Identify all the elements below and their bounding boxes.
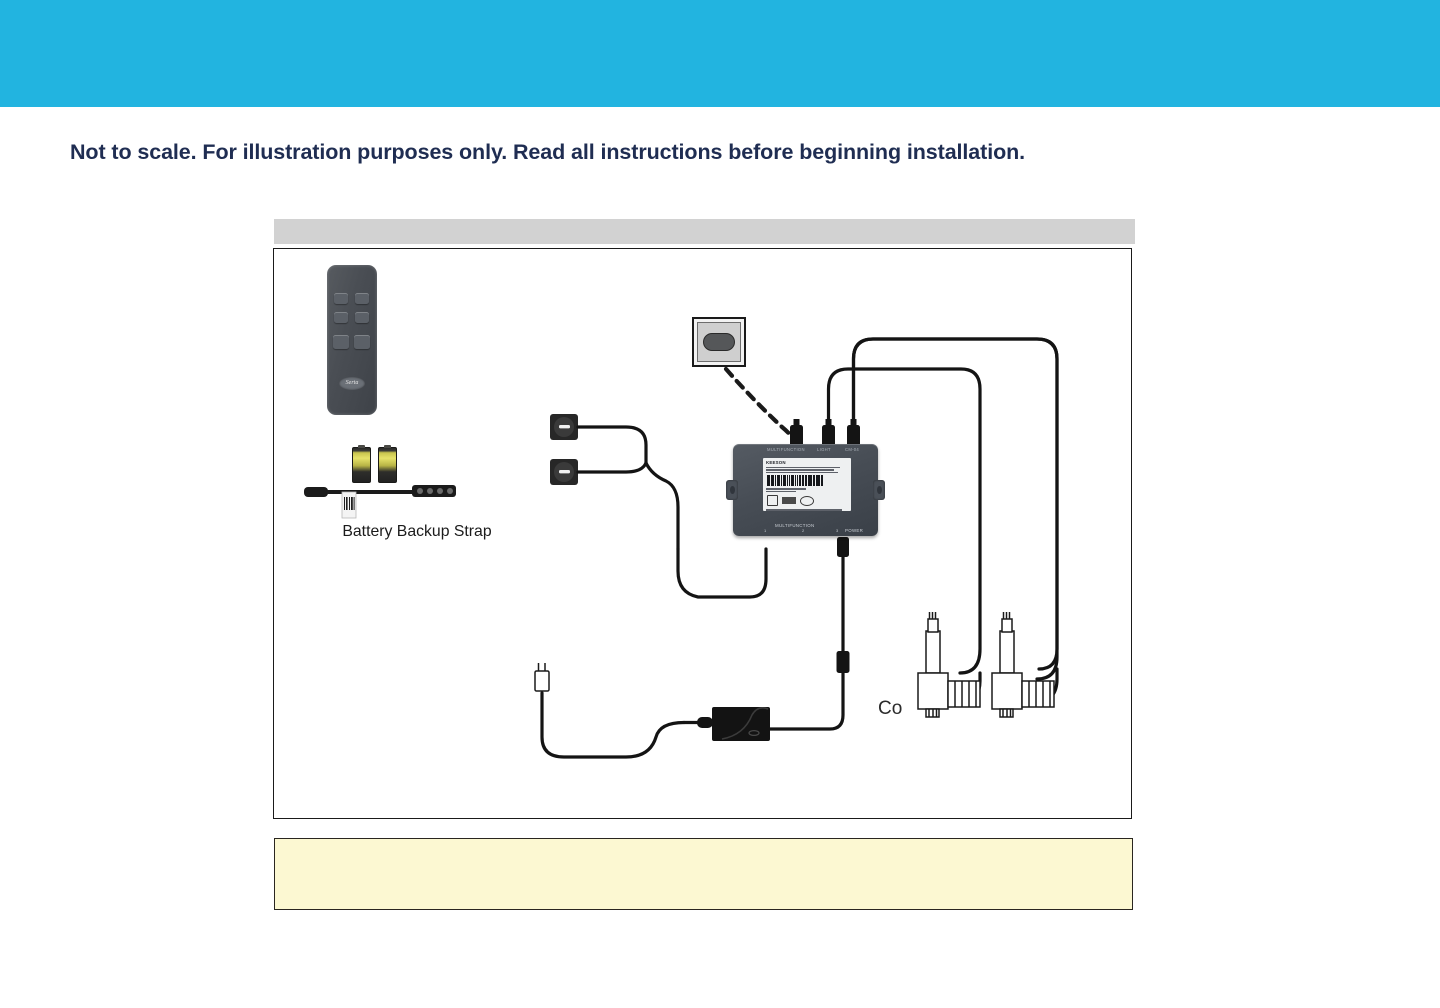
top-banner — [0, 0, 1440, 107]
control-box-mount-left — [726, 480, 738, 500]
battery-backup-strap-label: Battery Backup Strap — [292, 523, 542, 541]
section-label-multifunction: MULTIFUNCTION — [775, 523, 814, 528]
port-number-1: 1 — [764, 528, 767, 533]
port-label-multifunction-top: MULTIFUNCTION — [767, 447, 805, 452]
diagram-header-strip — [274, 219, 1135, 244]
wall-switch[interactable] — [692, 317, 746, 367]
wall-switch-button[interactable] — [703, 333, 735, 351]
note-box — [274, 838, 1133, 910]
ac-power-cord — [535, 663, 684, 757]
remote-button-head-down[interactable] — [334, 312, 348, 323]
remote-button-head-up[interactable] — [334, 293, 348, 304]
power-cable — [770, 537, 850, 729]
actuator-left — [918, 612, 980, 717]
remote-brand-logo: Serta — [339, 377, 365, 390]
remote-button-foot-down[interactable] — [355, 312, 369, 323]
remote-brand-text: Serta — [339, 377, 365, 390]
wireless-link — [726, 369, 796, 445]
control-box-truncated-label: Co — [878, 698, 902, 720]
remote-button-memory[interactable] — [354, 335, 370, 349]
actuator-right — [992, 612, 1054, 717]
power-supply-brick — [684, 707, 770, 741]
remote-button-foot-up[interactable] — [355, 293, 369, 304]
product-label-title: KEESON — [766, 460, 848, 465]
product-label-barcode — [767, 475, 847, 486]
port-number-2: 2 — [802, 528, 805, 533]
port-label-power: POWER — [845, 528, 863, 533]
wiring-diagram: .cbl{fill:none;stroke:#141414;stroke-wid… — [273, 248, 1132, 819]
wall-switch-plate — [697, 322, 741, 362]
control-box: MULTIFUNCTION LIGHT CM-04 KEESON — [733, 444, 878, 536]
port-number-3: 3 — [836, 528, 839, 533]
remote-control[interactable]: Serta — [327, 265, 377, 415]
battery-strap-cable — [294, 439, 534, 519]
page-caption: Not to scale. For illustration purposes … — [70, 140, 1170, 165]
battery-backup-strap-graphic — [294, 439, 534, 519]
control-box-top-connectors — [790, 419, 860, 447]
port-label-cm04: CM-04 — [845, 447, 859, 452]
port-label-light: LIGHT — [817, 447, 831, 452]
remote-button-flat[interactable] — [333, 335, 349, 349]
control-box-product-label: KEESON — [763, 458, 851, 511]
control-box-mount-right — [873, 480, 885, 500]
